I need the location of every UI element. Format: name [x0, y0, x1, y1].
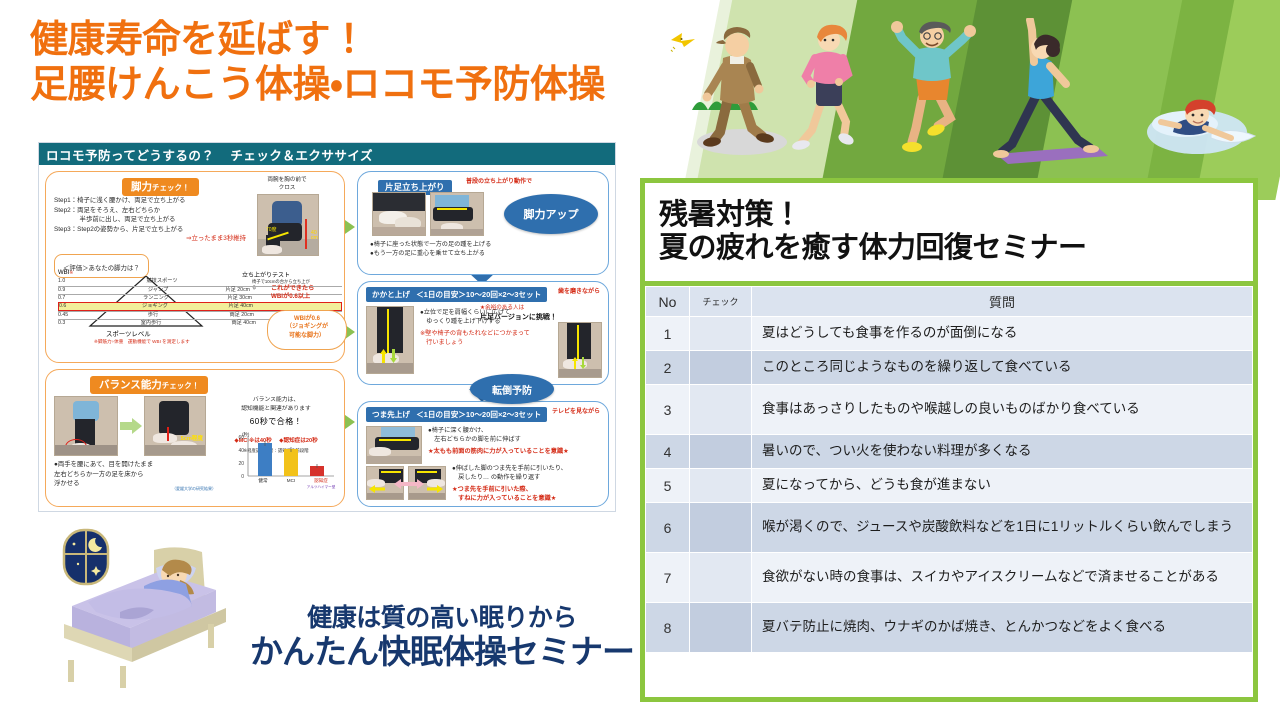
onefoot-note: 普段の立ち上がり動作で [466, 178, 532, 187]
toe-bullet-1: ●椅子に深く腰かけ、 [428, 426, 608, 435]
info-header-left: ロコモ予防ってどうするの？ [46, 145, 214, 164]
leg-step-1: Step1：椅子に浅く腰かけ、両足で立ち上がる [54, 196, 250, 206]
balance-bar-chart: (秒) 60 40 20 0 [226, 434, 338, 500]
heel-title-bar: かかと上げ ＜1日の目安＞10〜20回×2〜3セット [366, 287, 547, 302]
table-row[interactable]: 3 食事はあっさりしたものや喉越しの良いものばかり食べている [646, 385, 1253, 435]
summer-seminar-panel: 残暑対策！ 夏の疲れを癒す体力回復セミナー No チェック 質問 1 [640, 178, 1258, 702]
sleep-seminar-line2: かんたん快眠体操セミナー [250, 634, 634, 671]
heel-note: 歯を磨きながら [558, 288, 600, 297]
table-row[interactable]: 5 夏になってから、どうも食が進まない [646, 469, 1253, 503]
onefoot-photo-2 [430, 192, 484, 236]
swimming-woman-illustration [1145, 82, 1265, 168]
page-title: 健康寿命を延ばす！ 足腰けんこう体操・ロコモ予防体操 [30, 18, 605, 108]
balance-note-2: 認知機能と関連があります [212, 405, 340, 414]
col-header-check: チェック [690, 287, 752, 317]
exercising-senior-illustration [888, 14, 980, 162]
checklist-table: No チェック 質問 1 夏はどうしても食事を作るのが面倒になる 2 このところ [645, 286, 1253, 653]
row-check-cell[interactable] [690, 553, 752, 603]
row-check-cell[interactable] [690, 351, 752, 385]
chart-cat-2: 認知症 [304, 478, 338, 485]
heel-photo-2 [558, 322, 602, 378]
toe-star-2a: ★つま先を手前に引いた際、 [452, 485, 604, 494]
row-check-cell[interactable] [690, 435, 752, 469]
night-window-icon [64, 530, 108, 584]
svg-text:20: 20 [238, 461, 244, 467]
row-question: 食欲がない時の食事は、スイカやアイスクリームなどで済ませることがある [752, 553, 1253, 603]
row-question: 喉が渇くので、ジュースや炭酸飲料などを1日に1リットルくらい飲んでしまう [752, 503, 1253, 553]
table-row[interactable]: 8 夏バテ防止に焼肉、ウナギのかば焼き、とんかつなどをよく食べる [646, 603, 1253, 653]
leg-step-3: Step3：Step2の姿勢から、片足で立ち上がる [54, 225, 250, 235]
chart-cat-0: 健常 [248, 478, 278, 485]
table-row[interactable]: 1 夏はどうしても食事を作るのが面倒になる [646, 317, 1253, 351]
balance-pass: 60秒で合格！ [212, 416, 340, 427]
row-question: 暑いので、つい火を使わない料理が多くなる [752, 435, 1253, 469]
page-title-line2: 足腰けんこう体操・ロコモ予防体操 [30, 63, 605, 108]
balance-photo-1 [54, 396, 118, 456]
row-question: このところ同じようなものを繰り返して食べている [752, 351, 1253, 385]
info-panel-header: ロコモ予防ってどうするの？ チェック＆エクササイズ [39, 143, 615, 165]
heel-photo-1 [366, 306, 414, 374]
balance-note-1: バランス能力は、 [212, 396, 340, 405]
col-header-question: 質問 [752, 287, 1253, 317]
row-check-cell[interactable] [690, 603, 752, 653]
svg-text:0: 0 [241, 474, 244, 480]
balance-photo-2: 5cm程度 [144, 396, 206, 456]
leg-check-badge: 脚力チェック！ [122, 178, 199, 196]
balance-bullet-2: 左右どちらか一方の足を床から [54, 470, 224, 480]
col-header-no: No [646, 287, 690, 317]
row-check-cell[interactable] [690, 385, 752, 435]
row-check-cell[interactable] [690, 317, 752, 351]
leg-photo-caption: 両腕を胸の前で クロス [252, 176, 322, 193]
toe-photo-1 [366, 426, 422, 464]
jogging-woman-illustration [788, 18, 872, 158]
bird-icon [668, 30, 698, 56]
table-row[interactable]: 2 このところ同じようなものを繰り返して食べている [646, 351, 1253, 385]
row-check-cell[interactable] [690, 503, 752, 553]
chart-unit-label: (秒) [242, 432, 249, 439]
row-check-cell[interactable] [690, 469, 752, 503]
heel-bullet-4: 行いましょう [420, 338, 538, 347]
balance-check-box: バランス能力チェック！ [45, 369, 345, 507]
toe-raise-box: つま先上げ ＜1日の目安＞10〜20回×2〜3セット テレビを見ながら ●椅子に… [357, 401, 609, 507]
toe-title-bar: つま先上げ ＜1日の目安＞10〜20回×2〜3セット [366, 407, 547, 422]
chart-source: （愛媛大学の研究結果） [172, 486, 216, 492]
legpower-up-badge: 脚力アップ [504, 194, 598, 234]
heel-star-2: 片足バージョンに挑戦！ [480, 312, 566, 322]
toe-bullet-4: 戻したり… の動作を繰り返す [452, 473, 604, 482]
onefoot-bullet-2: ●もう一方の足に重心を乗せて立ち上がる [370, 249, 600, 258]
yoga-woman-illustration [990, 18, 1110, 166]
wbi-axis-label: WBI※ [58, 270, 73, 276]
summer-seminar-line1: 残暑対策！ [659, 199, 1253, 232]
poster-canvas: 健康寿命を延ばす！ 足腰けんこう体操・ロコモ予防体操 [0, 0, 1280, 720]
onefoot-photo-1 [372, 192, 426, 236]
heel-bullet-3: ※壁や椅子の背もたれなどにつかまって [420, 329, 538, 338]
one-leg-standup-box: 片足立ち上がり 普段の立ち上がり動作で 脚力アップ [357, 171, 609, 275]
row-no: 4 [646, 435, 690, 469]
toe-star-2b: すねに力が入っていることを意識★ [452, 494, 604, 503]
leg-step-2b: 半歩前に出し、両足で立ち上がる [54, 215, 250, 225]
chart-cat-2-sub: アルツハイマー型 [304, 485, 338, 490]
locomo-info-panel: ロコモ予防ってどうするの？ チェック＆エクササイズ [38, 142, 616, 512]
leg-step-note: ⇒立ったまま3秒維持 [54, 234, 250, 244]
row-question: 夏バテ防止に焼肉、ウナギのかば焼き、とんかつなどをよく食べる [752, 603, 1253, 653]
row-no: 7 [646, 553, 690, 603]
table-row[interactable]: 6 喉が渇くので、ジュースや炭酸飲料などを1日に1リットルくらい飲んでしまう [646, 503, 1253, 553]
table-row[interactable]: 7 食欲がない時の食事は、スイカやアイスクリームなどで済ませることがある [646, 553, 1253, 603]
row-no: 8 [646, 603, 690, 653]
row-no: 6 [646, 503, 690, 553]
wbi-footnote: ※脚筋力÷体重 運動機能で WBI を測定します [94, 339, 190, 346]
svg-text:40: 40 [238, 448, 244, 454]
balance-bullet-1: ●両手を腰にあて、目を開けたまま [54, 460, 224, 470]
row-question: 食事はあっさりしたものや喉越しの良いものばかり食べている [752, 385, 1253, 435]
row-no: 1 [646, 317, 690, 351]
summer-seminar-header: 残暑対策！ 夏の疲れを癒す体力回復セミナー [640, 178, 1258, 286]
wbi-bubble: WBIが0.6 （ジョギングが 可能な脚力） [267, 310, 347, 350]
row-question: 夏になってから、どうも食が進まない [752, 469, 1253, 503]
sleep-seminar-title: 健康は質の高い眠りから かんたん快眠体操セミナー [250, 604, 634, 671]
checklist-table-wrap: No チェック 質問 1 夏はどうしても食事を作るのが面倒になる 2 このところ [640, 286, 1258, 702]
row-no: 3 [646, 385, 690, 435]
page-title-line1: 健康寿命を延ばす！ [30, 19, 368, 61]
table-header-row: No チェック 質問 [646, 287, 1253, 317]
table-row[interactable]: 4 暑いので、つい火を使わない料理が多くなる [646, 435, 1253, 469]
sleep-seminar-line1: 健康は質の高い眠りから [250, 604, 634, 632]
chart-cat-1: MCI [278, 478, 304, 485]
toe-star-1: ★太もも前面の筋肉に力が入っていることを意識★ [428, 447, 608, 456]
info-header-right: チェック＆エクササイズ [230, 145, 373, 164]
arrow-right-icon [120, 418, 142, 434]
toe-bullet-3: ●伸ばした脚のつま先を手前に引いたり、 [452, 464, 604, 473]
wbi-bottom-label: スポーツレベル [106, 329, 151, 338]
walking-man-illustration [690, 20, 790, 160]
fall-prevention-badge: 転倒予防 [470, 374, 554, 404]
balance-check-badge: バランス能力チェック！ [90, 376, 208, 394]
row-no: 2 [646, 351, 690, 385]
leg-callout: これができたら WBIが0.6以上 [271, 285, 345, 302]
heel-raise-box: かかと上げ ＜1日の目安＞10〜20回×2〜3セット 歯を磨きながら ●立位で足… [357, 281, 609, 385]
row-question: 夏はどうしても食事を作るのが面倒になる [752, 317, 1253, 351]
onefoot-bullet-1: ●椅子に座った状態で一方の足の踵を上げる [370, 240, 600, 249]
double-arrow-icon [394, 478, 424, 490]
toe-note: テレビを見ながら [552, 408, 600, 417]
row-no: 5 [646, 469, 690, 503]
summer-seminar-line2: 夏の疲れを癒す体力回復セミナー [659, 232, 1253, 265]
toe-bullet-2: 左右どちらかの脚を前に伸ばす [428, 435, 608, 444]
leg-step-2: Step2：両足をそろえ、左右どちらか [54, 206, 250, 216]
heel-star-1: ★余裕のある人は [480, 304, 566, 312]
leg-check-photo: 70度 40cm [257, 194, 319, 256]
